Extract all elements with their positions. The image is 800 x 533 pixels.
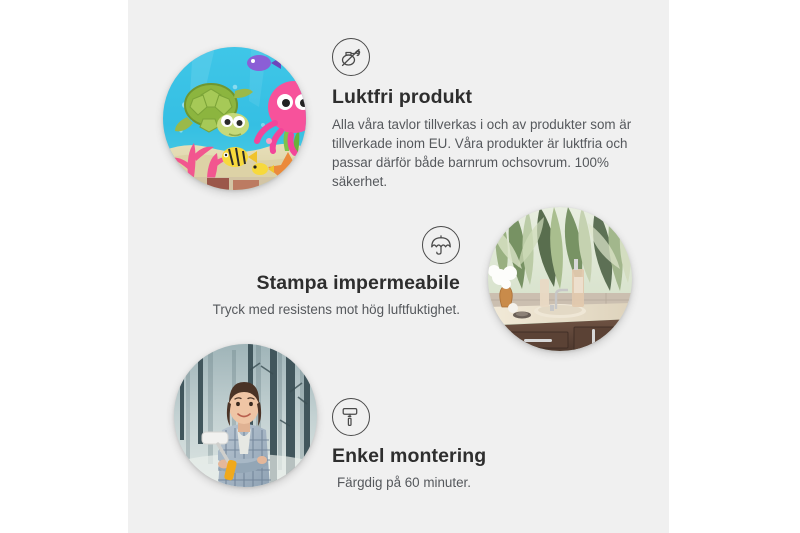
feature-odour-free: Luktfri produkt Alla våra tavlor tillver… [332,38,632,192]
feature-body: Tryck med resistens mot hög luftfuktighe… [160,300,460,319]
feature-title: Luktfri produkt [332,85,632,109]
forest-installer-illustration [174,344,317,487]
feature-body: Alla våra tavlor tillverkas i och av pro… [332,115,632,191]
underwater-scene-illustration [163,47,306,190]
feature-body: Färgdig på 60 minuter. [332,473,612,492]
feature-waterproof-print: Stampa impermeabile Tryck med resistens … [160,226,460,319]
paint-roller-icon [332,398,370,436]
bathroom-scene-illustration [488,207,632,351]
feature-title: Stampa impermeabile [160,271,460,295]
no-odour-icon [332,38,370,76]
promo-infographic-page: Luktfri produkt Alla våra tavlor tillver… [0,0,800,533]
umbrella-icon-wrap [160,226,460,264]
feature-title: Enkel montering [332,444,612,468]
bathroom-leaf-wallpaper-photo [488,207,632,351]
no-odour-icon-wrap [332,38,632,76]
umbrella-icon [422,226,460,264]
paint-roller-icon-wrap [332,398,612,436]
feature-easy-mounting: Enkel montering Färgdig på 60 minuter. [332,398,612,492]
underwater-kids-mural-photo [163,47,306,190]
forest-mural-installer-photo [174,344,317,487]
